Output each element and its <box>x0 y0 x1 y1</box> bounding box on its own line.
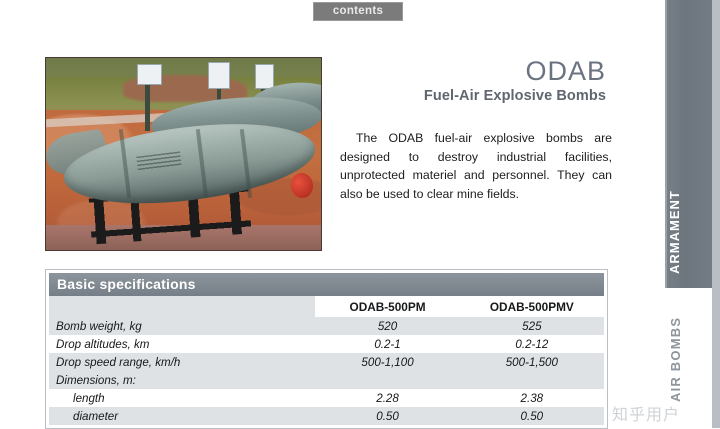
table-row: Drop speed range, km/h500-1,100500-1,500 <box>49 353 604 371</box>
bomb-photograph <box>45 57 322 251</box>
column-header-label <box>49 296 315 317</box>
table-row: Drop altitudes, km0.2-10.2-12 <box>49 335 604 353</box>
sidebar-subsection-air-bombs[interactable]: AIR BOMBS <box>668 306 683 402</box>
row-value <box>315 371 459 389</box>
specifications-grid: ODAB-500PM ODAB-500PMV Bomb weight, kg52… <box>49 296 604 425</box>
row-label: length <box>49 389 315 407</box>
row-value: 525 <box>460 317 604 335</box>
row-value <box>460 371 604 389</box>
specifications-header: Basic specifications <box>49 273 604 296</box>
row-value: 520 <box>315 317 459 335</box>
sidebar-section-label: ARMAMENT <box>667 164 714 274</box>
row-value: 0.50 <box>315 407 459 425</box>
photo-placard <box>137 64 162 85</box>
row-value: 500-1,100 <box>315 353 459 371</box>
watermark: 知乎用户 <box>612 401 680 425</box>
row-value: 0.2-1 <box>315 335 459 353</box>
photo-placard <box>208 62 230 89</box>
row-value: 2.38 <box>460 389 604 407</box>
page-subtitle: Fuel-Air Explosive Bombs <box>424 88 606 104</box>
table-row: diameter0.500.50 <box>49 407 604 425</box>
row-label: diameter <box>49 407 315 425</box>
table-row: Dimensions, m: <box>49 371 604 389</box>
table-row: length2.282.38 <box>49 389 604 407</box>
table-header-row: ODAB-500PM ODAB-500PMV <box>49 296 604 317</box>
specifications-table: Basic specifications ODAB-500PM ODAB-500… <box>45 269 608 429</box>
column-header-odab-500pm: ODAB-500PM <box>315 296 459 317</box>
sidebar-section-armament[interactable]: ARMAMENT <box>665 0 714 288</box>
row-value: 0.2-12 <box>460 335 604 353</box>
photo-placard <box>255 64 274 89</box>
row-value: 2.28 <box>315 389 459 407</box>
table-body: Bomb weight, kg520525Drop altitudes, km0… <box>49 317 604 425</box>
row-label: Drop speed range, km/h <box>49 353 315 371</box>
table-head: ODAB-500PM ODAB-500PMV <box>49 296 604 317</box>
row-label: Dimensions, m: <box>49 371 315 389</box>
row-label: Drop altitudes, km <box>49 335 315 353</box>
page-sheet: contents ODAB Fuel-Air Explosive Bombs T… <box>0 0 714 428</box>
description-paragraph: The ODAB fuel-air explosive bombs are de… <box>340 129 612 203</box>
row-value: 0.50 <box>460 407 604 425</box>
row-value: 500-1,500 <box>460 353 604 371</box>
contents-button[interactable]: contents <box>313 2 403 21</box>
row-label: Bomb weight, kg <box>49 317 315 335</box>
page-right-edge <box>712 0 720 428</box>
column-header-odab-500pmv: ODAB-500PMV <box>460 296 604 317</box>
table-row: Bomb weight, kg520525 <box>49 317 604 335</box>
page-title: ODAB <box>525 56 606 87</box>
